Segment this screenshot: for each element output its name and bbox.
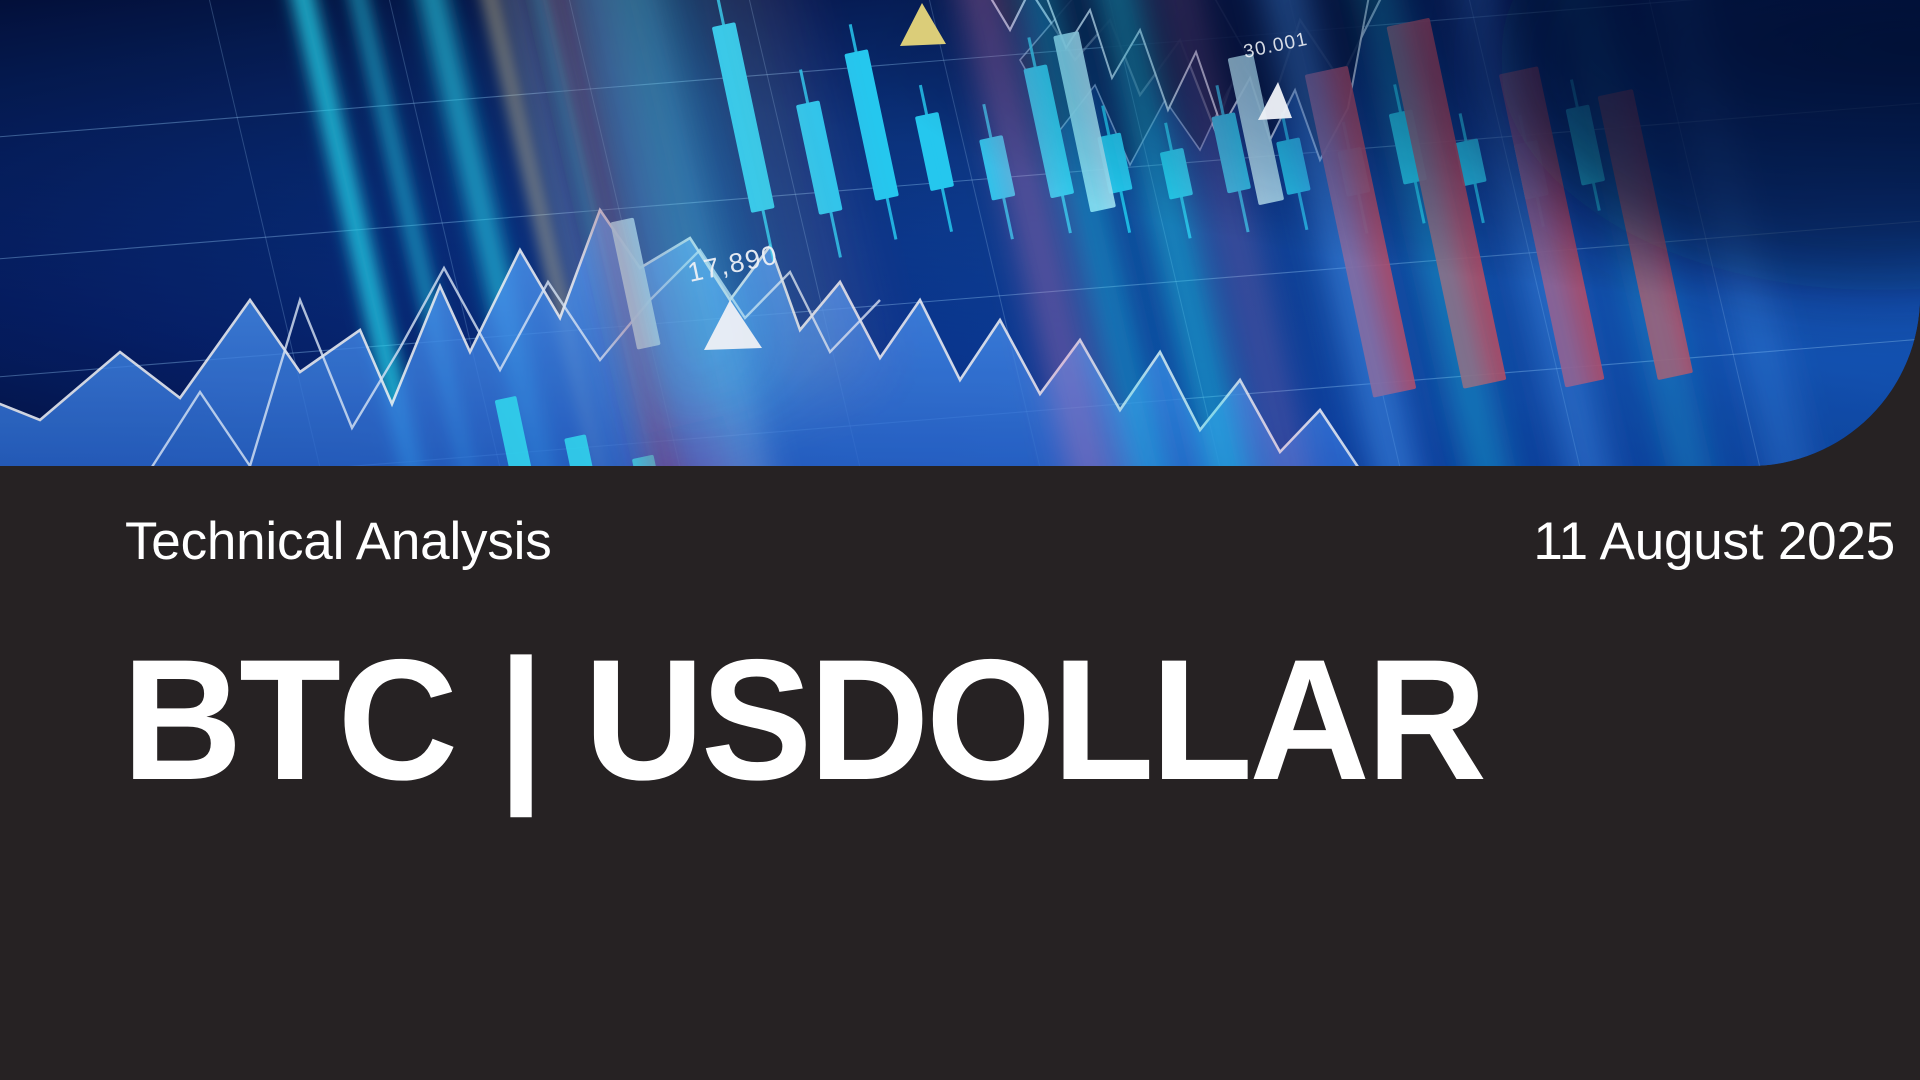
slide-root: 17,890 30.001 Technical Analysis 11 Augu…: [0, 0, 1920, 1080]
page-title: BTC | USDOLLAR: [122, 634, 1484, 806]
publication-date: 11 August 2025: [1533, 515, 1895, 568]
hero-chart-artwork: 17,890 30.001: [0, 0, 1920, 466]
hero-image: 17,890 30.001: [0, 0, 1920, 466]
eyebrow-label: Technical Analysis: [125, 515, 552, 568]
